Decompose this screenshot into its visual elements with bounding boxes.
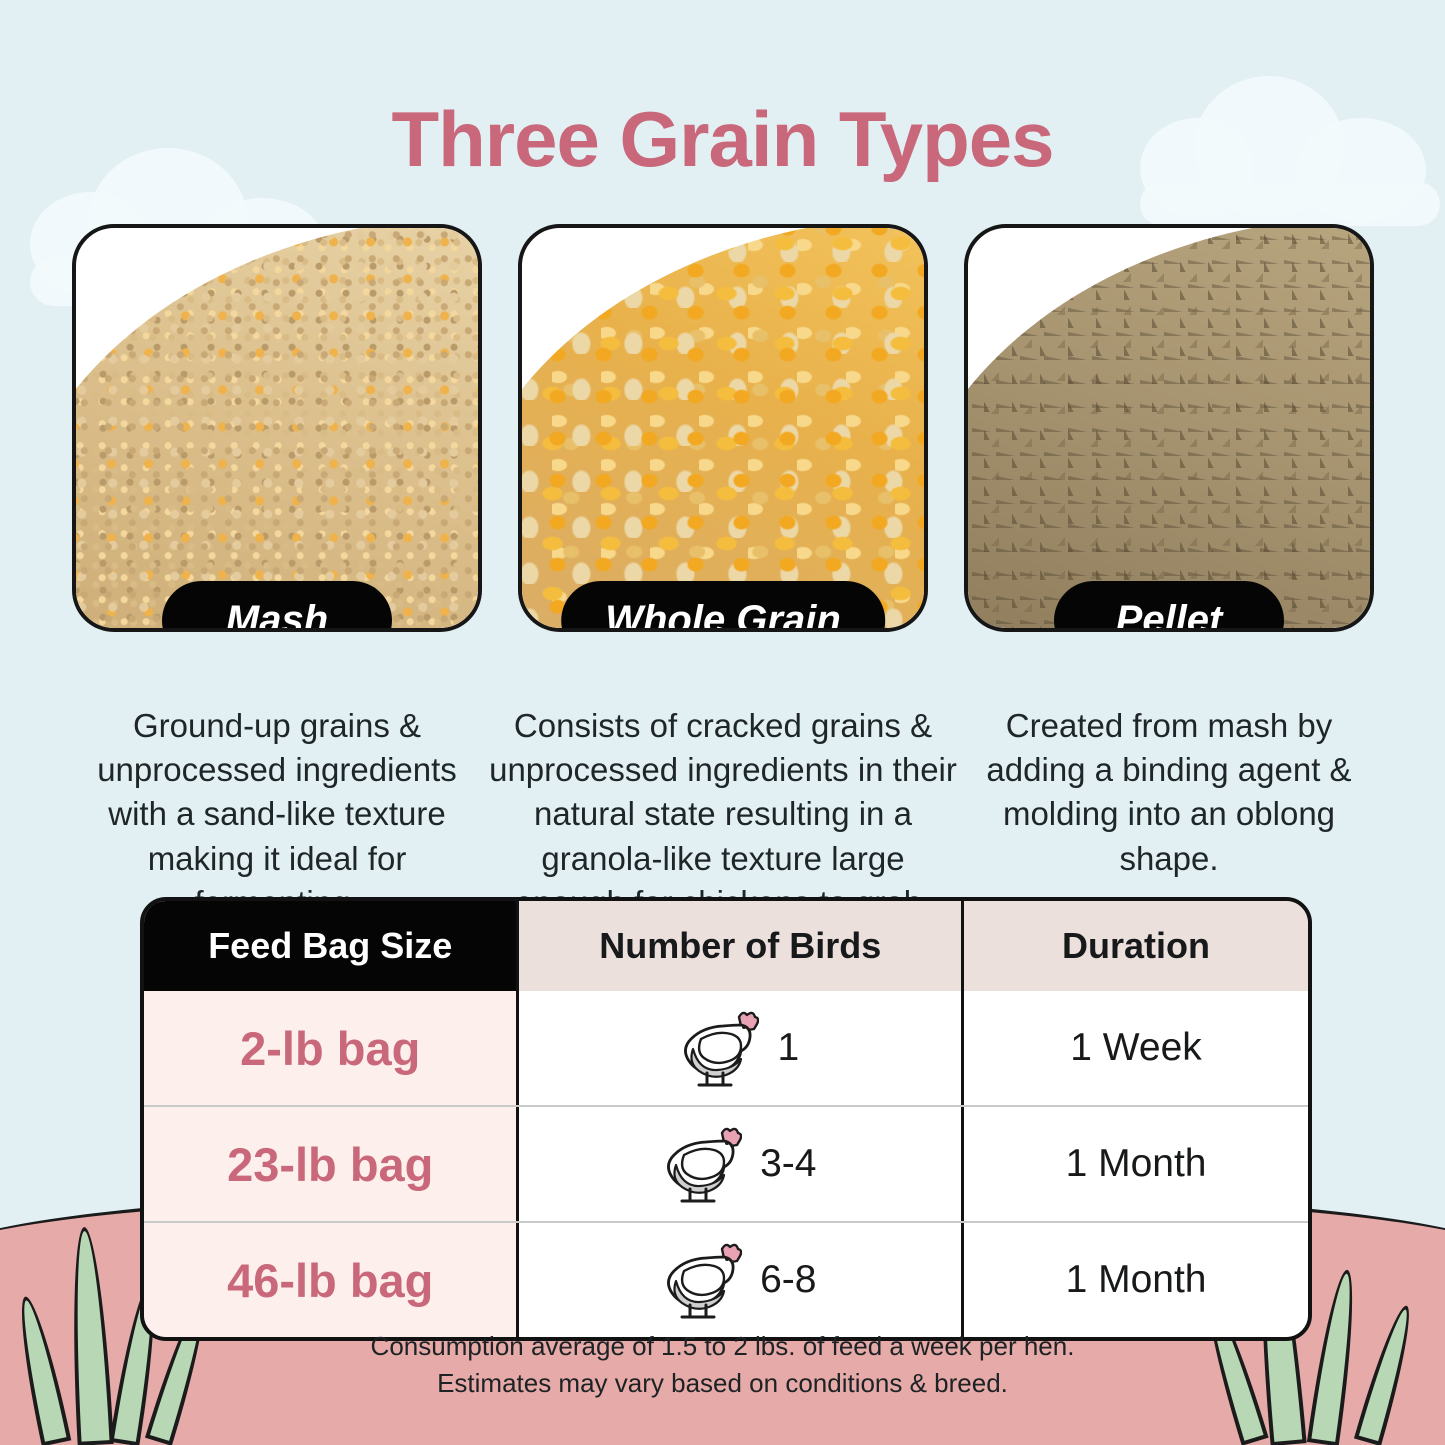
chicken-icon	[664, 1237, 742, 1323]
cell-bag-size: 23-lb bag	[144, 1107, 516, 1221]
cell-duration: 1 Week	[961, 991, 1308, 1105]
cell-duration: 1 Month	[961, 1107, 1308, 1221]
page-title: Three Grain Types	[0, 94, 1445, 185]
footnote-line-1: Consumption average of 1.5 to 2 lbs. of …	[0, 1328, 1445, 1366]
infographic-canvas: Three Grain Types Mash Ground-up grains …	[0, 0, 1445, 1445]
grain-card-whole-grain: Whole Grain Consists of cracked grains &…	[518, 224, 928, 925]
grain-description-mash: Ground-up grains & unprocessed ingredien…	[72, 704, 482, 925]
pellet-pile-graphic	[964, 224, 1374, 632]
cell-bag-size: 46-lb bag	[144, 1223, 516, 1337]
bird-count-value: 1	[777, 1026, 799, 1070]
whole-grain-pile-graphic	[518, 224, 928, 632]
table-header-row: Feed Bag Size Number of Birds Duration	[144, 901, 1308, 991]
table-row: 2-lb bag 1	[144, 991, 1308, 1105]
chicken-icon	[664, 1121, 742, 1207]
cell-number-of-birds: 6-8	[516, 1223, 961, 1337]
cell-number-of-birds: 3-4	[516, 1107, 961, 1221]
cell-bag-size: 2-lb bag	[144, 991, 516, 1105]
grain-card-pellet: Pellet Created from mash by adding a bin…	[964, 224, 1374, 925]
footnote-line-2: Estimates may vary based on conditions &…	[0, 1365, 1445, 1403]
grain-label-pellet: Pellet	[1054, 581, 1284, 632]
table-row: 23-lb bag 3-4	[144, 1105, 1308, 1221]
header-cell-feed-bag-size: Feed Bag Size	[144, 901, 516, 991]
bird-count-value: 6-8	[760, 1258, 816, 1302]
grain-label-mash: Mash	[162, 581, 392, 632]
header-cell-duration: Duration	[961, 901, 1308, 991]
mash-feed-photo: Mash	[72, 224, 482, 632]
bird-count-value: 3-4	[760, 1142, 816, 1186]
chicken-icon	[681, 1005, 759, 1091]
mash-pile-graphic	[72, 224, 482, 632]
footnote: Consumption average of 1.5 to 2 lbs. of …	[0, 1328, 1445, 1403]
grain-type-cards: Mash Ground-up grains & unprocessed ingr…	[72, 224, 1374, 925]
cell-duration: 1 Month	[961, 1223, 1308, 1337]
feed-bag-table: Feed Bag Size Number of Birds Duration 2…	[140, 897, 1312, 1341]
grain-description-pellet: Created from mash by adding a binding ag…	[964, 704, 1374, 881]
table-row: 46-lb bag 6-8	[144, 1221, 1308, 1337]
header-cell-number-of-birds: Number of Birds	[516, 901, 961, 991]
whole-grain-feed-photo: Whole Grain	[518, 224, 928, 632]
grain-description-whole-grain: Consists of cracked grains & unprocessed…	[488, 704, 958, 925]
pellet-feed-photo: Pellet	[964, 224, 1374, 632]
table-body: 2-lb bag 1	[144, 991, 1308, 1337]
cell-number-of-birds: 1	[516, 991, 961, 1105]
grain-label-whole-grain: Whole Grain	[561, 581, 885, 632]
grain-card-mash: Mash Ground-up grains & unprocessed ingr…	[72, 224, 482, 925]
